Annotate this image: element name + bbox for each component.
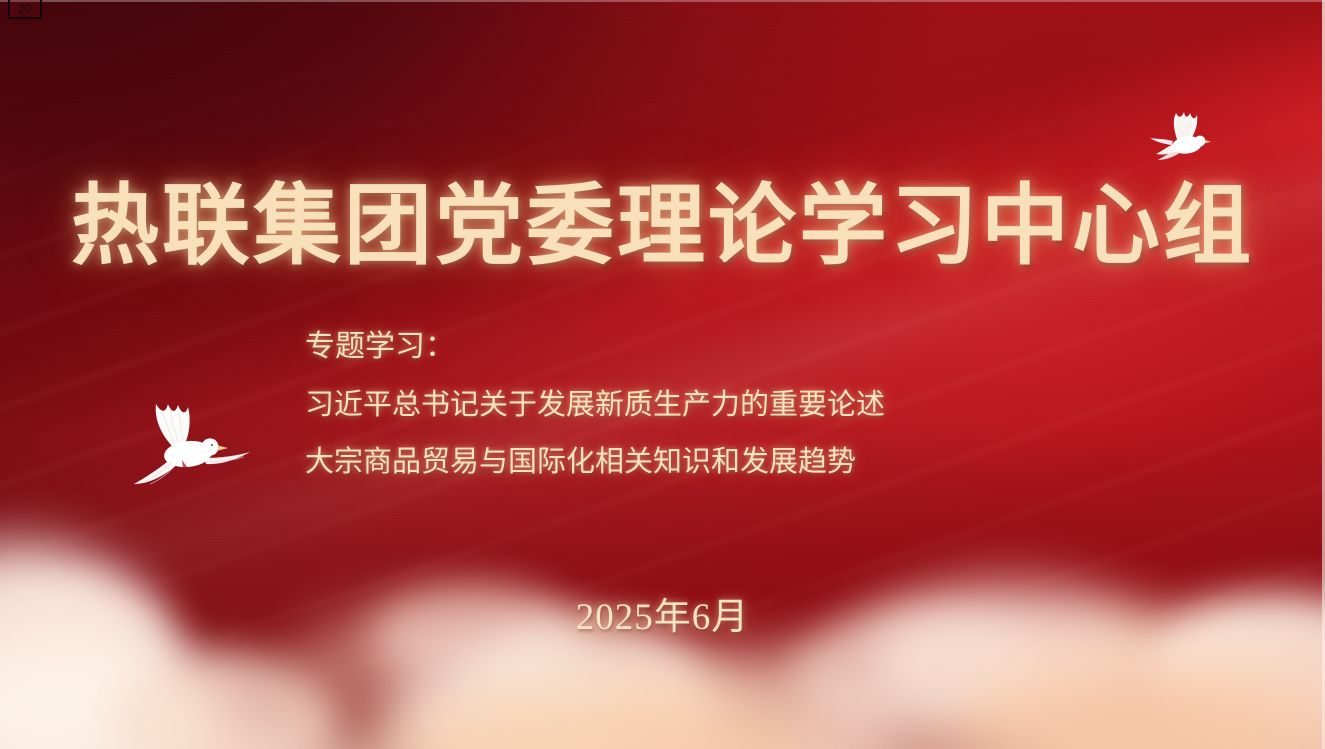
cloud-warm-underlight [940, 683, 1320, 749]
presentation-slide: 热联集团党委理论学习中心组 专题学习： 习近平总书记关于发展新质生产力的重要论述… [0, 0, 1325, 749]
cloud-warm-underlight [390, 693, 810, 749]
slide-title: 热联集团党委理论学习中心组 [0, 178, 1325, 273]
cloud-puff [110, 651, 340, 749]
dove-top-right [1138, 104, 1230, 170]
subject-item-2: 大宗商品贸易与国际化相关知识和发展趋势 [305, 447, 1005, 476]
slide-date: 2025年6月 [0, 586, 1325, 640]
subject-label: 专题学习： [305, 332, 1005, 362]
cloud-puff [0, 543, 150, 749]
subject-block: 专题学习： 习近平总书记关于发展新质生产力的重要论述 大宗商品贸易与国际化相关知… [305, 332, 1005, 476]
cloud-puff [1080, 653, 1325, 749]
cloud-puff [600, 651, 900, 749]
page-number-badge[interactable]: 20 [8, 0, 42, 19]
cloud-puff [390, 639, 730, 749]
frame-top-edge [0, 0, 1325, 2]
subject-item-1: 习近平总书记关于发展新质生产力的重要论述 [305, 390, 1005, 419]
dove-left [118, 392, 258, 492]
cloud-puff [0, 643, 230, 749]
cloud-base-band [0, 683, 1325, 749]
